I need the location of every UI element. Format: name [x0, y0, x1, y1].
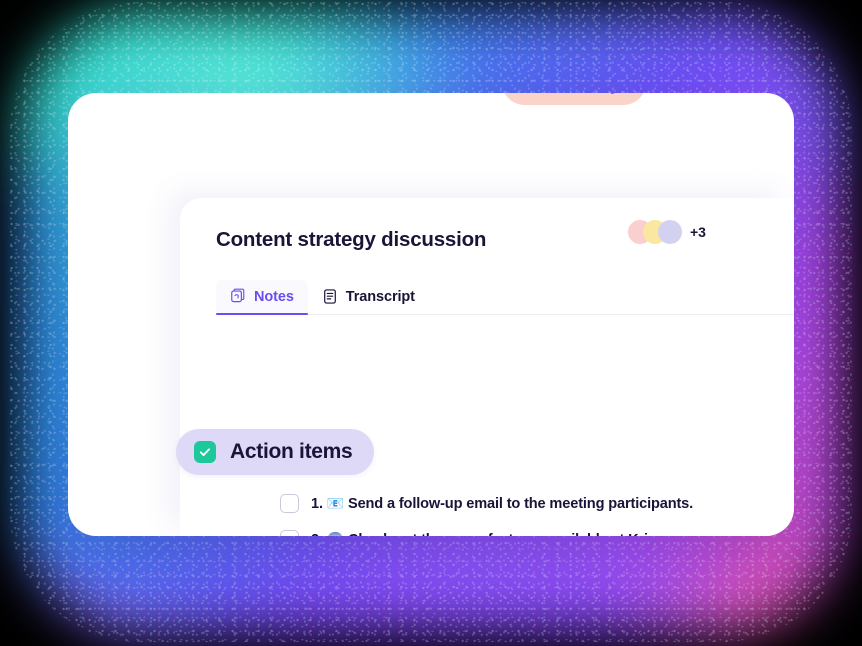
list-item-text: 1. 📧 Send a follow-up email to the meeti… — [311, 495, 693, 512]
tab-transcript[interactable]: Transcript — [308, 280, 429, 314]
screenshot-stage: Content strategy discussion +3 — [0, 0, 862, 646]
panel-header: Content strategy discussion +3 — [180, 198, 794, 315]
list-item-number: 2. — [311, 532, 323, 537]
item-checkbox[interactable] — [280, 494, 299, 513]
list-item-text: 2. 😱 Check out the many features availab… — [311, 531, 665, 537]
summary-badge-label: Summary — [527, 93, 621, 95]
notes-icon — [230, 288, 246, 305]
item-checkbox[interactable] — [280, 530, 299, 537]
action-items-label: Action items — [230, 440, 352, 464]
screaming-face-emoji: 😱 — [327, 531, 344, 537]
summary-badge[interactable]: Summary — [502, 93, 646, 105]
tab-transcript-label: Transcript — [346, 289, 415, 305]
list-item-number: 1. — [311, 496, 323, 512]
list-item[interactable]: 1. 📧 Send a follow-up email to the meeti… — [280, 486, 776, 520]
tab-notes-label: Notes — [254, 289, 294, 305]
email-emoji: 📧 — [327, 495, 344, 511]
meeting-notes-card: Content strategy discussion +3 — [68, 93, 794, 536]
list-item[interactable]: 2. 😱 Check out the many features availab… — [280, 522, 776, 536]
avatar — [658, 220, 682, 244]
transcript-icon — [322, 288, 338, 305]
participants-avatars[interactable]: +3 — [628, 220, 706, 244]
action-items-list: 1. 📧 Send a follow-up email to the meeti… — [280, 486, 776, 536]
action-items-header[interactable]: Action items — [176, 429, 374, 475]
list-item-body: Check out the many features available at… — [348, 532, 665, 537]
page-title: Content strategy discussion — [216, 228, 794, 252]
list-item-body: Send a follow-up email to the meeting pa… — [348, 496, 693, 512]
avatar-stack — [628, 220, 682, 244]
avatar-overflow-count: +3 — [690, 224, 706, 240]
tab-notes[interactable]: Notes — [216, 280, 308, 314]
tab-bar: Notes Transcript — [216, 280, 794, 315]
checkbox-checked-icon — [194, 441, 216, 463]
